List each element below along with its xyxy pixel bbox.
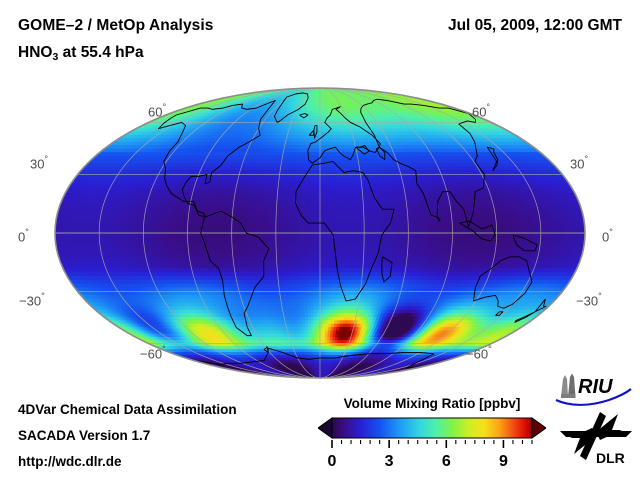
- footer-line-version: SACADA Version 1.7: [18, 428, 150, 443]
- species-suffix: at 55.4 hPa: [58, 44, 143, 61]
- lat-label-right-minus30: −30°: [576, 292, 602, 308]
- species-subscript: 3: [52, 51, 58, 63]
- lat-label-left-30: 30°: [30, 155, 48, 171]
- lat-label-left-0: 0°: [18, 228, 29, 244]
- lat-label-left-minus60: −60°: [140, 345, 166, 361]
- dlr-wordmark: DLR: [596, 450, 625, 466]
- lat-label-right-minus60: −60°: [466, 345, 492, 361]
- riu-logo: RIU: [551, 373, 635, 407]
- lat-label-left-60: 60°: [148, 103, 166, 119]
- figure-root: GOME–2 / MetOp Analysis HNO3 at 55.4 hPa…: [0, 0, 640, 480]
- lat-label-right-30: 30°: [570, 155, 588, 171]
- mollweide-map: [0, 78, 640, 383]
- map-panel: 60°30°0°−30°−60°60°30°0°−30°−60°: [0, 78, 640, 383]
- colorbar-body: [318, 418, 546, 438]
- colorbar-tick-label: 3: [385, 453, 394, 470]
- footer-line-method: 4DVar Chemical Data Assimilation: [18, 402, 237, 417]
- species-label: HNO3 at 55.4 hPa: [18, 44, 144, 62]
- colorbar-cap-high: [532, 418, 546, 438]
- colorbar-tick-labels: 0369: [328, 453, 508, 470]
- colorbar-tick-label: 0: [328, 453, 337, 470]
- species-prefix: HNO: [18, 44, 52, 61]
- colorbar-tick-label: 6: [442, 453, 451, 470]
- footer-line-url[interactable]: http://wdc.dlr.de: [18, 454, 122, 469]
- colorbar-title: Volume Mixing Ratio [ppbv]: [318, 396, 546, 411]
- lat-label-left-minus30: −30°: [19, 292, 45, 308]
- colorbar-tick-label: 9: [499, 453, 508, 470]
- colorbar-cap-low: [318, 418, 332, 438]
- colorbar-gradient: [332, 418, 532, 438]
- dlr-logo: DLR: [556, 410, 636, 466]
- page-title: GOME–2 / MetOp Analysis: [18, 17, 214, 35]
- colorbar-ticks: [332, 440, 532, 448]
- colorbar-block: Volume Mixing Ratio [ppbv] 0369: [318, 396, 546, 474]
- timestamp: Jul 05, 2009, 12:00 GMT: [448, 17, 622, 35]
- riu-spires-icon: [561, 374, 576, 399]
- lat-label-right-60: 60°: [472, 103, 490, 119]
- riu-wordmark: RIU: [578, 376, 613, 398]
- lat-label-right-0: 0°: [602, 228, 613, 244]
- colorbar: 0369: [318, 416, 546, 472]
